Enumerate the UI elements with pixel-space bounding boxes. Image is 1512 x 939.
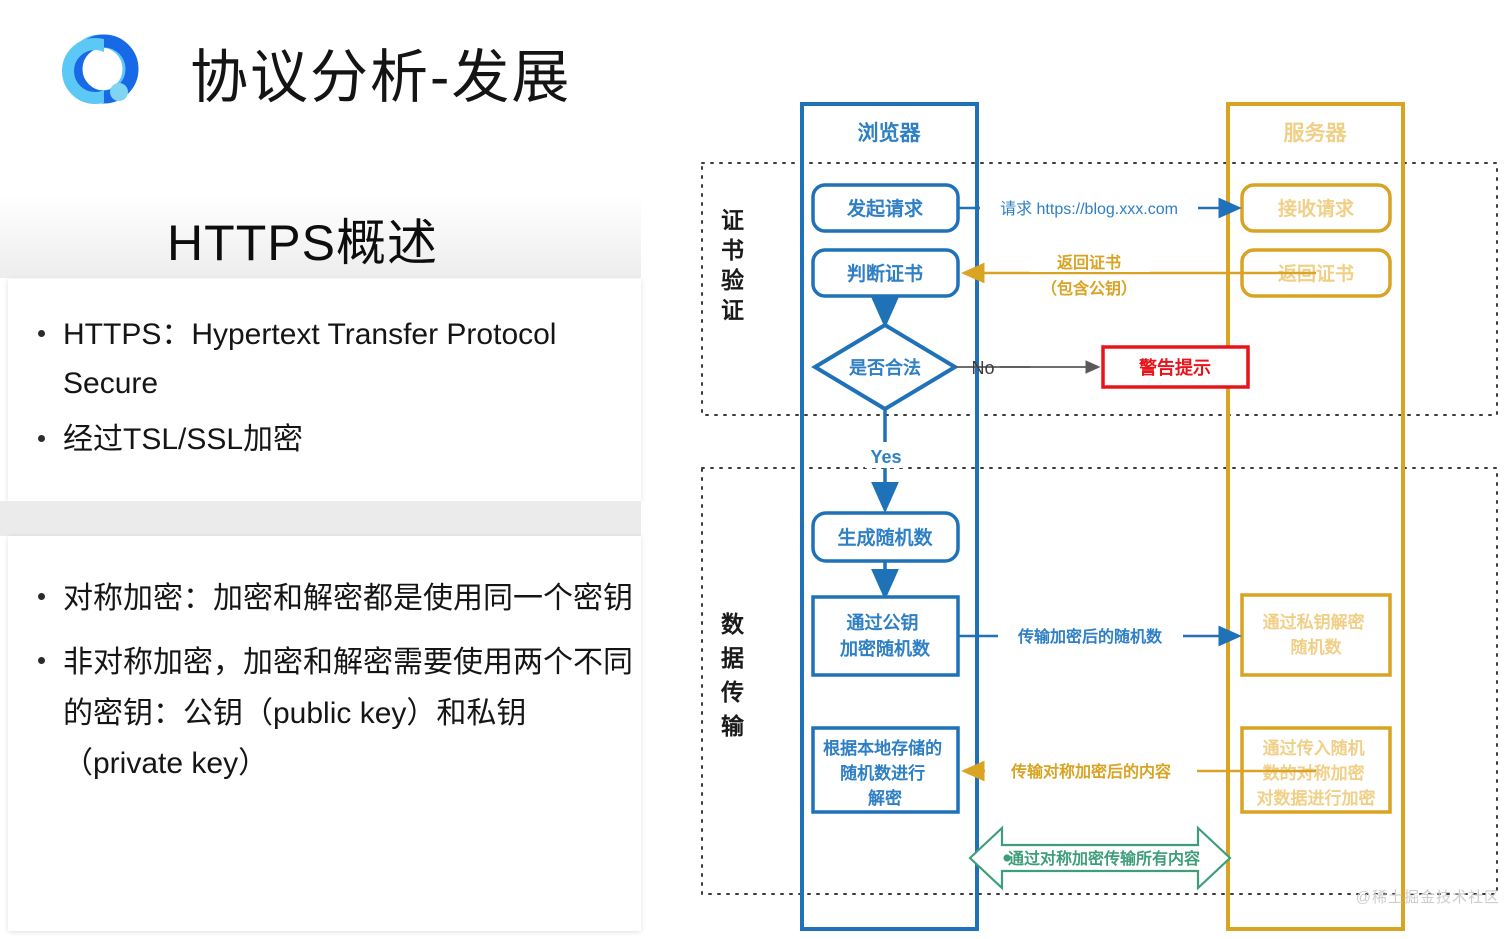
lane-label-browser: 浏览器: [858, 121, 922, 145]
node-judge-cert: 判断证书: [813, 250, 958, 296]
edge-request-url: 请求 https://blog.xxx.com: [958, 195, 1238, 221]
phase-label-cert-verify: 证 书 验 证: [721, 207, 750, 323]
edge-label-return-cert-1: 返回证书: [1057, 253, 1121, 272]
slide-left-panel: 协议分析-发展 HTTPS概述 HTTPS：Hypertext Transfer…: [0, 0, 680, 939]
svg-text:数 据 传: 数 据 传 输: [720, 611, 750, 739]
section-title: HTTPS概述: [0, 196, 641, 278]
node-gen-random: 生成随机数: [813, 513, 958, 561]
svg-text:通过传入随机 数的对称加密: 通过传入随机 数的对称加密 对数据进行加密: [1257, 738, 1376, 808]
edge-no-branch: No: [955, 358, 1098, 378]
content-card-overview: HTTPS：Hypertext Transfer Protocol Secure…: [8, 279, 641, 501]
bullet-list-encryption: 对称加密：加密和解密都是使用同一个密钥 非对称加密，加密和解密需要使用两个不同的…: [8, 536, 641, 790]
bullet-list-overview: HTTPS：Hypertext Transfer Protocol Secure…: [8, 279, 641, 465]
node-send-request: 发起请求: [813, 185, 958, 231]
edge-yes-branch: Yes: [865, 409, 907, 508]
edge-label-yes: Yes: [870, 447, 901, 467]
svg-text:是否合法: 是否合法: [848, 357, 921, 378]
svg-text:警告提示: 警告提示: [1139, 357, 1211, 378]
node-encrypt-random: 通过公钥 加密随机数: [813, 597, 958, 675]
svg-text:接收请求: 接收请求: [1278, 197, 1355, 220]
list-item: 经过TSL/SSL加密: [8, 416, 641, 465]
svg-text:判断证书: 判断证书: [847, 262, 923, 285]
edge-all-via-symmetric: 通过对称加密传输所有内容: [970, 828, 1230, 888]
edge-label-send-encrypted-random: 传输加密后的随机数: [1017, 627, 1163, 646]
list-item: 非对称加密，加密和解密需要使用两个不同的密钥：公钥（public key）和私钥…: [8, 638, 641, 789]
svg-text:证 书 验: 证 书 验 证: [721, 207, 750, 323]
list-item: HTTPS：Hypertext Transfer Protocol Secure: [8, 311, 641, 408]
lane-label-server: 服务器: [1284, 121, 1348, 145]
node-recv-request: 接收请求: [1242, 185, 1390, 231]
card-divider-band: [0, 501, 641, 536]
section-title-text: HTTPS概述: [167, 203, 438, 275]
svg-text:发起请求: 发起请求: [846, 197, 924, 220]
node-is-valid: 是否合法: [815, 325, 955, 409]
edge-label-return-cert-2: （包含公钥）: [1041, 279, 1137, 298]
watermark: @稀土掘金技术社区: [1356, 886, 1500, 907]
list-item: 对称加密：加密和解密都是使用同一个密钥: [8, 574, 641, 624]
content-card-encryption: 对称加密：加密和解密都是使用同一个密钥 非对称加密，加密和解密需要使用两个不同的…: [8, 536, 641, 931]
node-decrypt-local: 根据本地存储的 随机数进行 解密: [813, 728, 958, 812]
node-priv-decrypt: 通过私钥解密 随机数: [1242, 595, 1390, 675]
juejin-ring-logo-icon: [62, 32, 140, 110]
edge-label-send-sym-content: 传输对称加密后的内容: [1010, 762, 1171, 781]
slide-root: 协议分析-发展 HTTPS概述 HTTPS：Hypertext Transfer…: [0, 0, 1512, 939]
edge-send-encrypted-random: 传输加密后的随机数: [958, 623, 1238, 647]
edge-label-no: No: [971, 358, 994, 378]
https-flow-diagram: 证 书 验 证 数 据 传 输 浏览器: [680, 0, 1512, 939]
edge-label-request-url: 请求 https://blog.xxx.com: [1000, 200, 1178, 218]
edge-label-all-via-symmetric: 通过对称加密传输所有内容: [1008, 849, 1200, 868]
phase-label-data-transfer: 数 据 传 输: [720, 611, 750, 739]
svg-text:生成随机数: 生成随机数: [837, 526, 933, 549]
deck-title: 协议分析-发展: [190, 30, 571, 114]
node-warning: 警告提示: [1103, 347, 1248, 387]
